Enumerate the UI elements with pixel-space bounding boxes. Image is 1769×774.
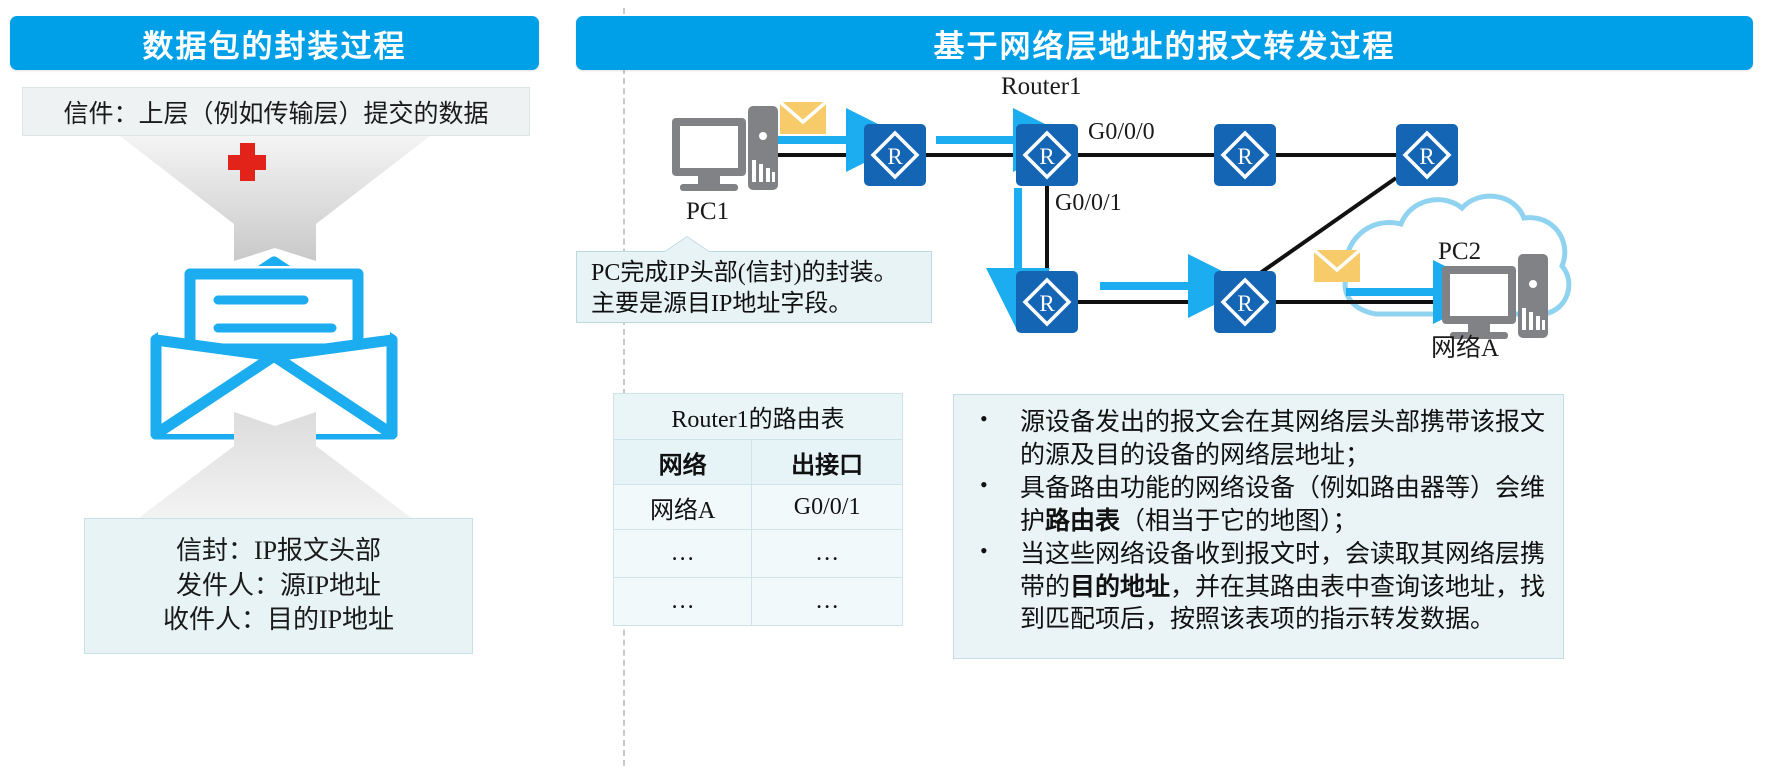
router-icon-r6: R (1214, 271, 1276, 333)
router-icon-router1: R (1016, 124, 1078, 186)
left-panel-title: 数据包的封装过程 (10, 16, 539, 70)
list-item: 源设备发出的报文会在其网络层头部携带该报文的源及目的设备的网络层地址； (962, 407, 1553, 472)
ip-header-line1: 信封：IP报文头部 (176, 534, 381, 569)
table-row: … … (614, 530, 903, 578)
cell-network: … (614, 530, 752, 578)
pc2-icon (1442, 254, 1548, 339)
callout-tail (665, 237, 709, 252)
pc1-callout-line1: PC完成IP头部(信封)的封装。 (591, 258, 931, 289)
cell-network: 网络A (614, 485, 752, 530)
cell-interface: … (752, 530, 903, 578)
pc1-icon (672, 106, 778, 191)
explanation-bullets-box: 源设备发出的报文会在其网络层头部携带该报文的源及目的设备的网络层地址； 具备路由… (953, 394, 1564, 659)
emphasis-text: 目的地址 (1070, 574, 1170, 601)
pc1-callout-box: PC完成IP头部(信封)的封装。 主要是源目IP地址字段。 (576, 251, 932, 323)
router-icon-r5: R (1016, 271, 1078, 333)
cell-interface: … (752, 578, 903, 626)
router-icon-r4: R (1396, 124, 1458, 186)
ip-header-line3: 收件人：目的IP地址 (163, 603, 394, 638)
body-text: （相当于它的地图）； (1120, 508, 1358, 535)
cell-network: … (614, 578, 752, 626)
pc2-label: PC2 (1438, 238, 1481, 266)
column-header-interface: 出接口 (752, 440, 903, 485)
svg-text:R: R (1039, 144, 1055, 169)
interface-label-g001: G0/0/1 (1055, 190, 1122, 217)
upper-layer-data-box: 信件：上层（例如传输层）提交的数据 (22, 87, 530, 136)
red-cross-icon (228, 143, 266, 181)
routing-table: Router1的路由表 网络 出接口 网络A G0/0/1 … … … … (613, 393, 903, 626)
pc1-callout-line2: 主要是源目IP地址字段。 (591, 289, 931, 320)
svg-text:R: R (1237, 291, 1253, 316)
svg-text:R: R (1039, 291, 1055, 316)
pc1-label: PC1 (686, 198, 729, 226)
router-icon-r2: R (864, 124, 926, 186)
cell-interface: G0/0/1 (752, 485, 903, 530)
table-header-row: 网络 出接口 (614, 440, 903, 485)
ip-header-line2: 发件人：源IP地址 (176, 569, 381, 604)
column-header-network: 网络 (614, 440, 752, 485)
funnel-arrow-bottom-icon (120, 412, 430, 532)
mail-packet-icon-2 (1314, 250, 1360, 282)
interface-label-g000: G0/0/0 (1088, 119, 1155, 146)
svg-text:R: R (887, 144, 903, 169)
router-icon-r3: R (1214, 124, 1276, 186)
list-item: 当这些网络设备收到报文时，会读取其网络层携带的目的地址，并在其路由表中查询该地址… (962, 539, 1553, 637)
routing-table-title: Router1的路由表 (614, 394, 903, 440)
table-row: 网络A G0/0/1 (614, 485, 903, 530)
right-panel-title: 基于网络层地址的报文转发过程 (576, 16, 1753, 70)
table-title-row: Router1的路由表 (614, 394, 903, 440)
cloud-label: 网络A (1431, 328, 1499, 364)
mail-packet-icon-1 (780, 102, 826, 134)
ip-header-description-box: 信封：IP报文头部 发件人：源IP地址 收件人：目的IP地址 (84, 518, 473, 654)
svg-text:R: R (1237, 144, 1253, 169)
emphasis-text: 路由表 (1045, 508, 1120, 535)
funnel-arrow-top-icon (120, 136, 430, 261)
router1-label: Router1 (1001, 73, 1082, 101)
slide-root: 数据包的封装过程 信件：上层（例如传输层）提交的数据 (0, 0, 1769, 774)
svg-text:R: R (1419, 144, 1435, 169)
table-row: … … (614, 578, 903, 626)
body-text: 源设备发出的报文会在其网络层头部携带该报文的源及目的设备的网络层地址； (1020, 409, 1545, 469)
list-item: 具备路由功能的网络设备（例如路由器等）会维护路由表（相当于它的地图）； (962, 473, 1553, 538)
network-topology-diagram: R R R R R (576, 78, 1761, 373)
bullet-list: 源设备发出的报文会在其网络层头部携带该报文的源及目的设备的网络层地址； 具备路由… (962, 407, 1553, 637)
